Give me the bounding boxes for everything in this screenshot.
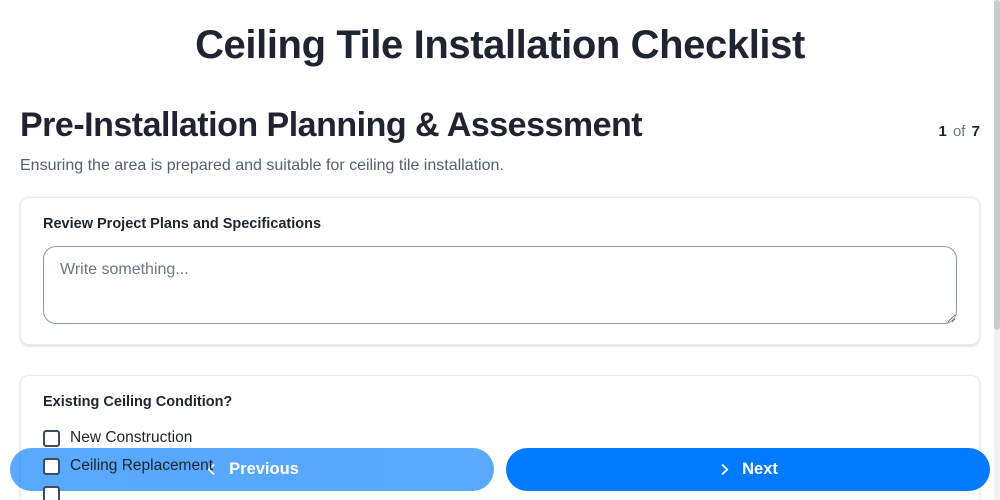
previous-button-label: Previous bbox=[229, 461, 299, 478]
step-counter: 1 of 7 bbox=[938, 123, 980, 145]
checkbox-label: Ceiling Replacement bbox=[70, 458, 213, 474]
chevron-right-icon bbox=[718, 463, 731, 476]
checkbox-ceiling-replacement[interactable] bbox=[43, 458, 60, 475]
page-scrollbar-track[interactable] bbox=[994, 0, 1000, 500]
checklist-page: Ceiling Tile Installation Checklist Pre-… bbox=[0, 0, 1000, 500]
section-title: Pre-Installation Planning & Assessment bbox=[20, 106, 642, 145]
step-total: 7 bbox=[972, 123, 980, 140]
section-subtitle: Ensuring the area is prepared and suitab… bbox=[0, 155, 1000, 177]
step-current: 1 bbox=[938, 123, 946, 140]
page-title: Ceiling Tile Installation Checklist bbox=[0, 0, 1000, 68]
checkbox-new-construction[interactable] bbox=[43, 430, 60, 447]
review-project-plans-textarea[interactable] bbox=[43, 246, 957, 324]
field-label: Review Project Plans and Specifications bbox=[43, 215, 957, 234]
field-label: Existing Ceiling Condition? bbox=[43, 393, 957, 412]
checkbox-option-3[interactable] bbox=[43, 486, 60, 500]
section-header: Pre-Installation Planning & Assessment 1… bbox=[0, 106, 1000, 145]
field-card-review-project-plans: Review Project Plans and Specifications bbox=[20, 197, 980, 345]
step-of-label: of bbox=[953, 123, 966, 140]
page-scrollbar-thumb[interactable] bbox=[994, 0, 1000, 330]
next-button[interactable]: Next bbox=[506, 448, 990, 491]
checkbox-label: New Construction bbox=[70, 430, 192, 446]
next-button-label: Next bbox=[742, 461, 778, 478]
